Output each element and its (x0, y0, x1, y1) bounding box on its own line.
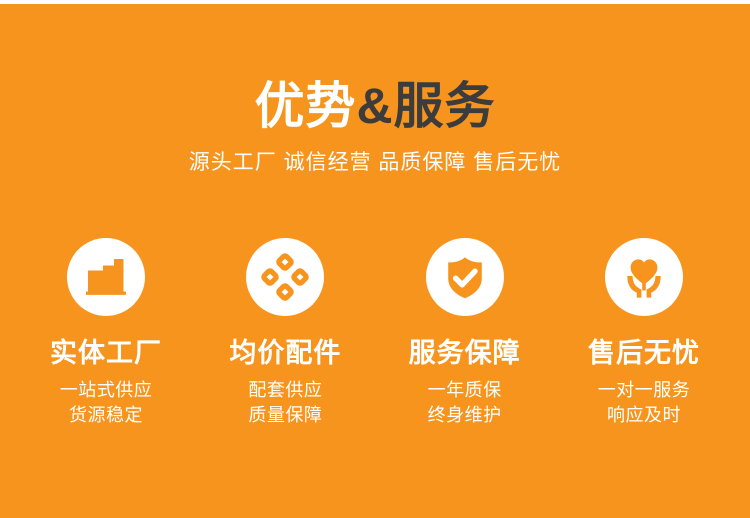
feature-desc-line-1: 一站式供应 (60, 378, 153, 403)
feature-item-parts: 均价配件 配套供应 质量保障 (196, 238, 374, 428)
feature-desc-line-1: 配套供应 (248, 378, 322, 403)
page-title-highlight: 优势 (254, 78, 356, 134)
feature-title: 售后无忧 (588, 337, 700, 369)
feature-desc-line-2: 响应及时 (598, 403, 691, 428)
shield-check-icon (426, 238, 504, 316)
feature-description: 配套供应 质量保障 (248, 378, 322, 428)
page-title: 优势&服务 (0, 78, 750, 134)
diamond-parts-icon (246, 238, 324, 316)
feature-item-after-sales: 售后无忧 一对一服务 响应及时 (555, 238, 733, 428)
feature-description: 一年质保 终身维护 (428, 378, 502, 428)
page-title-secondary: &服务 (356, 78, 495, 134)
feature-description: 一站式供应 货源稳定 (60, 378, 153, 428)
feature-desc-line-2: 终身维护 (428, 403, 502, 428)
feature-title: 实体工厂 (50, 337, 162, 369)
top-white-strip (0, 0, 750, 4)
page-subtitle: 源头工厂 诚信经营 品质保障 售后无忧 (0, 149, 750, 177)
heart-hands-icon (605, 238, 683, 316)
feature-title: 均价配件 (229, 337, 341, 369)
banner-header: 优势&服务 源头工厂 诚信经营 品质保障 售后无忧 (0, 78, 750, 177)
feature-desc-line-1: 一对一服务 (598, 378, 691, 403)
feature-item-service-guarantee: 服务保障 一年质保 终身维护 (376, 238, 554, 428)
feature-desc-line-2: 货源稳定 (60, 403, 153, 428)
feature-item-factory: 实体工厂 一站式供应 货源稳定 (17, 238, 195, 428)
promo-banner: 优势&服务 源头工厂 诚信经营 品质保障 售后无忧 (0, 0, 750, 518)
feature-description: 一对一服务 响应及时 (598, 378, 691, 428)
feature-desc-line-1: 一年质保 (428, 378, 502, 403)
feature-desc-line-2: 质量保障 (248, 403, 322, 428)
feature-title: 服务保障 (409, 337, 521, 369)
feature-list: 实体工厂 一站式供应 货源稳定 均价配件 配套供应 (0, 238, 750, 428)
factory-icon (67, 238, 145, 316)
